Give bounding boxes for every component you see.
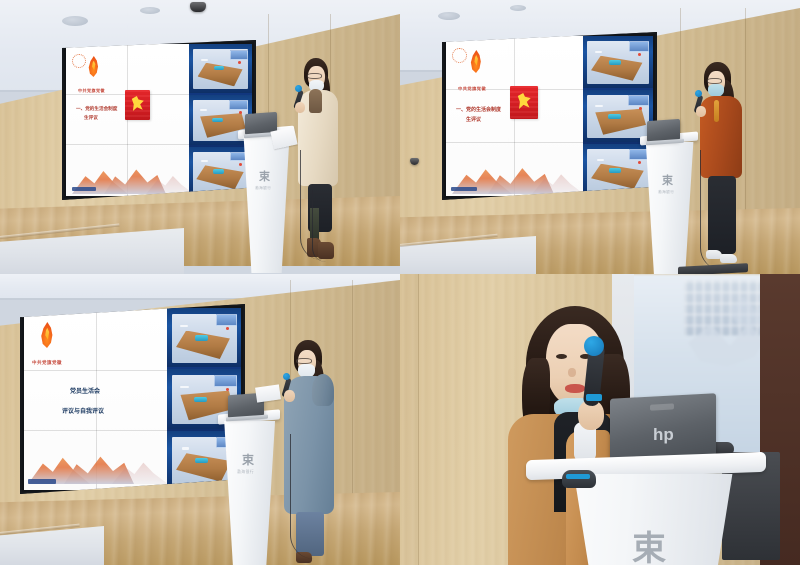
video-feed-tile: [583, 36, 653, 88]
led-video-wall: 中共党旗党徽 党员生活会 评议与自我评议: [20, 304, 245, 494]
podium-logo: 束: [259, 172, 269, 183]
wall-seam: [418, 274, 419, 565]
ceiling-camera-icon: [190, 2, 206, 12]
emblem-wreath-icon: [72, 54, 86, 68]
video-feed-tile: [167, 308, 241, 367]
slide-title-line2: 评议与自我评议: [62, 406, 104, 415]
collage-panel-top-right: 中共党旗党徽 一、党的生活会制度 生评议: [400, 0, 800, 274]
handheld-device: [562, 470, 596, 488]
podium-logo: 束: [662, 176, 672, 187]
collage-panel-top-left: 中共党旗党徽 一、党的生活会制度 生评议: [0, 0, 400, 274]
mouth: [565, 384, 585, 393]
podium-logo-subtitle: 渤海银行: [658, 190, 674, 195]
slide-footer-tag: [72, 187, 96, 191]
eye: [556, 354, 567, 359]
collage-panel-bottom-right: hp 束: [400, 274, 800, 565]
meeting-room-scene: 中共党旗党徽 一、党的生活会制度 生评议: [400, 0, 800, 274]
slide-title-line1: 党员生活会: [70, 386, 100, 395]
slide-footer-tag: [451, 187, 477, 191]
microphone-head: [584, 336, 604, 356]
slide-title-line1: 一、党的生活会制度: [76, 106, 117, 112]
party-flame-emblem-icon: [86, 56, 101, 77]
podium-logo-subtitle: 渤海银行: [255, 186, 271, 191]
microphone-head: [283, 373, 290, 380]
collage-panel-bottom-left: 中共党旗党徽 党员生活会 评议与自我评议: [0, 274, 400, 565]
speaker-closeup-scene: hp 束: [400, 274, 800, 565]
led-video-wall: 中共党旗党徽 一、党的生活会制度 生评议: [62, 40, 256, 200]
lectern: 束 渤海银行: [218, 412, 280, 565]
meeting-room-scene: 中共党旗党徽 党员生活会 评议与自我评议: [0, 274, 400, 565]
power-cable: [312, 190, 326, 262]
party-flag-icon: [510, 86, 538, 119]
podium-logo: 束: [632, 532, 665, 565]
presentation-slide: 中共党旗党徽 一、党的生活会制度 生评议: [66, 44, 189, 196]
ceiling-vent-icon: [438, 12, 460, 20]
ceiling-vent-icon: [510, 5, 526, 11]
mic-cable: [700, 150, 722, 270]
podium-logo: 束: [242, 454, 253, 466]
party-flag-icon: [125, 90, 150, 120]
glasses-icon: [307, 73, 322, 79]
slide-title-line1: 一、党的生活会制度: [456, 106, 501, 113]
ceiling-vent-icon: [140, 7, 160, 14]
nose: [568, 368, 576, 377]
slide-footer-tag: [28, 479, 56, 484]
laptop-brand-logo: hp: [653, 426, 674, 443]
mic-cable: [290, 434, 314, 559]
emblem-wreath-icon: [452, 48, 467, 63]
led-wall-inner: 中共党旗党徽 一、党的生活会制度 生评议: [66, 44, 252, 196]
microphone-head: [295, 85, 302, 92]
microphone-band: [586, 394, 602, 401]
meeting-room-scene: 中共党旗党徽 一、党的生活会制度 生评议: [0, 0, 400, 274]
photo-collage: 中共党旗党徽 一、党的生活会制度 生评议: [0, 0, 800, 565]
party-flame-emblem-icon: [38, 322, 56, 348]
led-wall-inner: 中共党旗党徽 一、党的生活会制度 生评议: [446, 36, 653, 196]
presentation-slide: 中共党旗党徽 一、党的生活会制度 生评议: [446, 36, 583, 196]
slide-subtitle: 中共党旗党徽: [32, 360, 62, 366]
wall-seam: [352, 280, 353, 508]
mountain-artwork: [24, 440, 167, 484]
wall-panel-shade: [400, 274, 418, 565]
ceiling-vent-icon: [62, 16, 88, 26]
podium-logo-subtitle: 渤海银行: [237, 470, 254, 475]
video-feed-tile: [189, 44, 252, 93]
lectern: 束: [526, 456, 766, 565]
led-video-wall: 中共党旗党徽 一、党的生活会制度 生评议: [442, 32, 657, 200]
party-flame-emblem-icon: [468, 50, 484, 73]
slide-subtitle: 中共党旗党徽: [458, 86, 486, 92]
slide-title-line2: 生评议: [466, 116, 481, 123]
microphone-head: [695, 90, 702, 97]
presentation-slide: 中共党旗党徽 党员生活会 评议与自我评议: [24, 308, 167, 490]
led-wall-inner: 中共党旗党徽 党员生活会 评议与自我评议: [24, 308, 241, 490]
slide-subtitle: 中共党旗党徽: [78, 88, 105, 94]
slide-title-line2: 生评议: [84, 115, 98, 121]
lectern: 束 渤海银行: [238, 128, 294, 273]
handheld-device-band: [566, 474, 590, 479]
